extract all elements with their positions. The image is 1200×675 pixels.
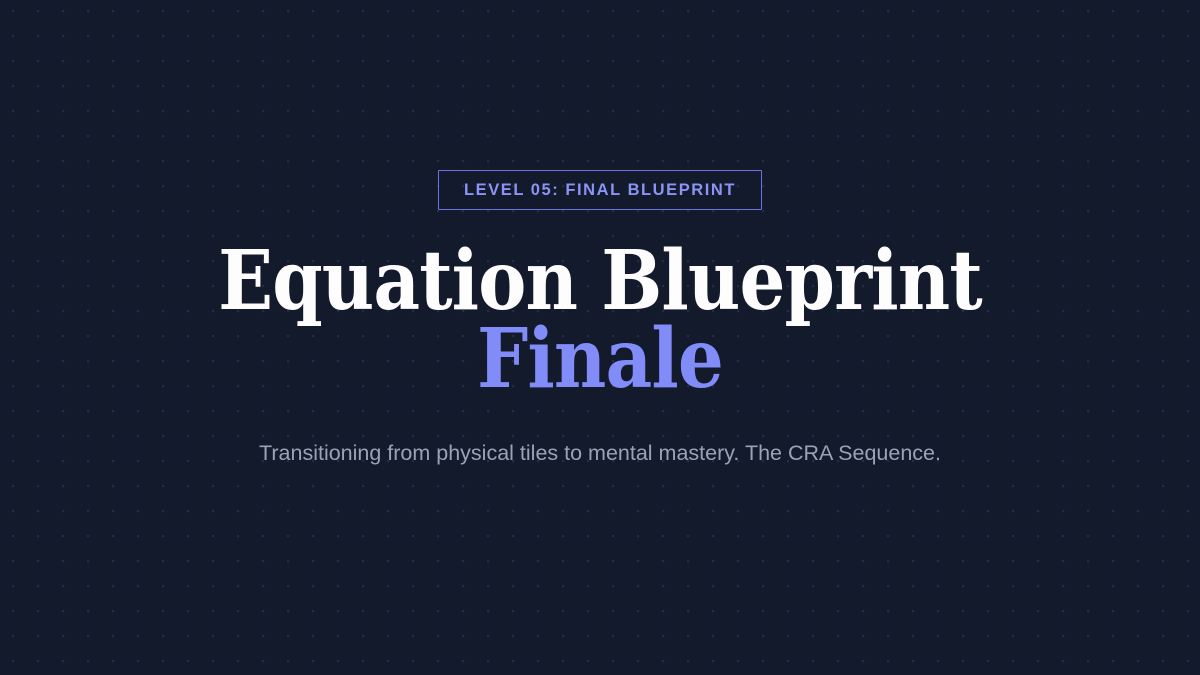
level-badge: LEVEL 05: FINAL BLUEPRINT bbox=[438, 170, 762, 210]
title-slide: LEVEL 05: FINAL BLUEPRINT Equation Bluep… bbox=[0, 0, 1200, 675]
page-title-line-2: Finale bbox=[218, 320, 982, 398]
page-subtitle: Transitioning from physical tiles to men… bbox=[255, 432, 945, 474]
level-badge-label: LEVEL 05: FINAL BLUEPRINT bbox=[464, 182, 736, 199]
page-title: Equation Blueprint Finale bbox=[166, 210, 1034, 398]
slide-content: LEVEL 05: FINAL BLUEPRINT Equation Bluep… bbox=[0, 0, 1200, 675]
page-title-line-1: Equation Blueprint bbox=[218, 242, 982, 320]
